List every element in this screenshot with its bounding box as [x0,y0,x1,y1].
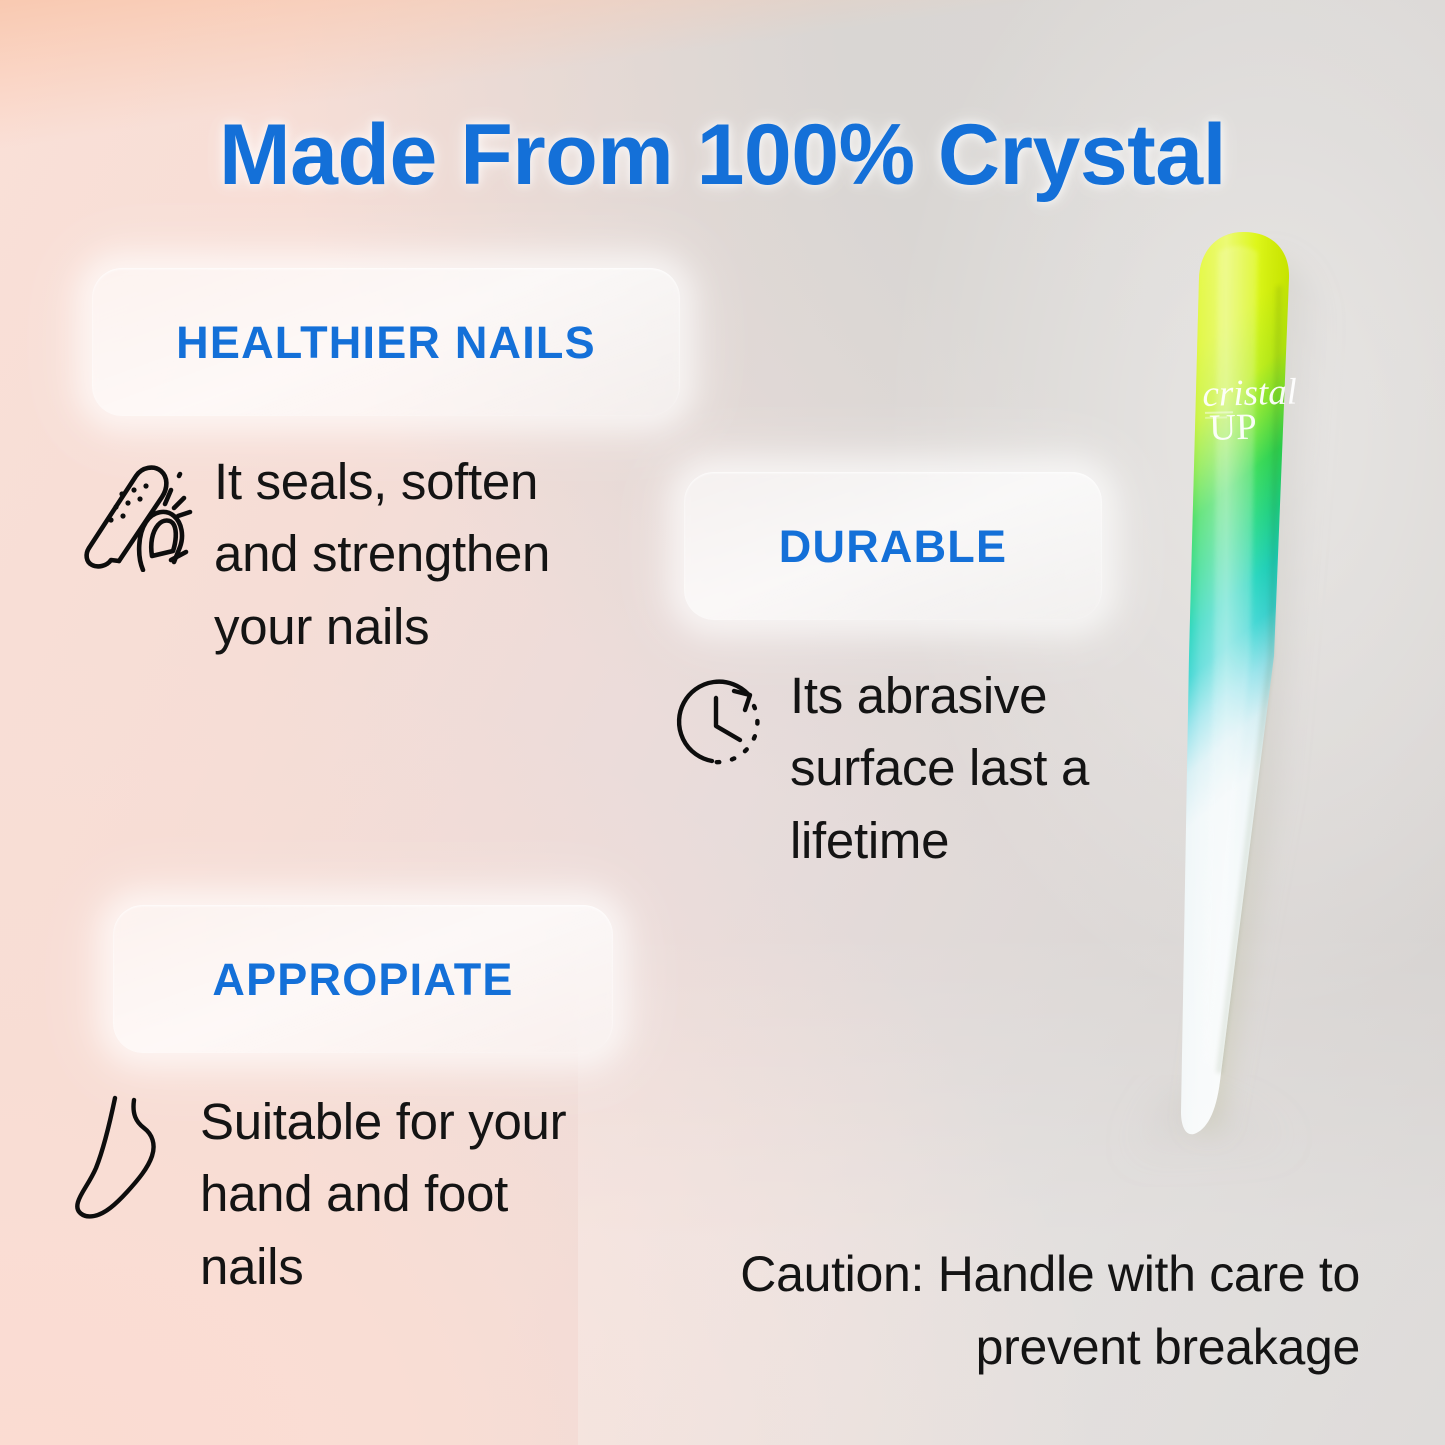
caution-text: Caution: Handle with care to prevent bre… [660,1238,1360,1383]
foot-icon [72,1092,182,1227]
product-wall-shadow [1194,256,1324,1131]
feature-healthier-nails: It seals, soften and strengthen your nai… [80,446,660,663]
feature-healthier-nails-text: It seals, soften and strengthen your nai… [214,446,634,663]
badge-appropiate: APPROPIATE [113,905,613,1053]
feature-appropiate: Suitable for your hand and foot nails [72,1086,612,1303]
feature-durable-text: Its abrasive surface last a lifetime [790,660,1098,877]
feature-durable: Its abrasive surface last a lifetime [668,660,1098,877]
infographic-canvas: cristal UP Made From 100% Crystal HEALTH… [0,0,1445,1445]
product-body [1181,232,1289,1134]
badge-appropiate-label: APPROPIATE [212,957,513,1002]
feature-appropiate-text: Suitable for your hand and foot nails [200,1086,600,1303]
badge-durable-label: DURABLE [779,524,1007,569]
product-floor-shadow [1128,1094,1306,1156]
badge-durable: DURABLE [684,472,1102,620]
product-brand-logo: cristal UP [1202,372,1298,449]
badge-healthier-nails-label: HEALTHIER NAILS [176,320,596,365]
brand-line-1: cristal [1202,372,1298,415]
badge-healthier-nails: HEALTHIER NAILS [92,268,680,416]
brand-line-2: UP [1209,407,1257,449]
nail-file-icon [80,452,196,577]
product-nail-file: cristal UP [1068,226,1398,1156]
clock-arrow-icon [668,666,772,781]
page-title: Made From 100% Crystal [0,110,1445,200]
